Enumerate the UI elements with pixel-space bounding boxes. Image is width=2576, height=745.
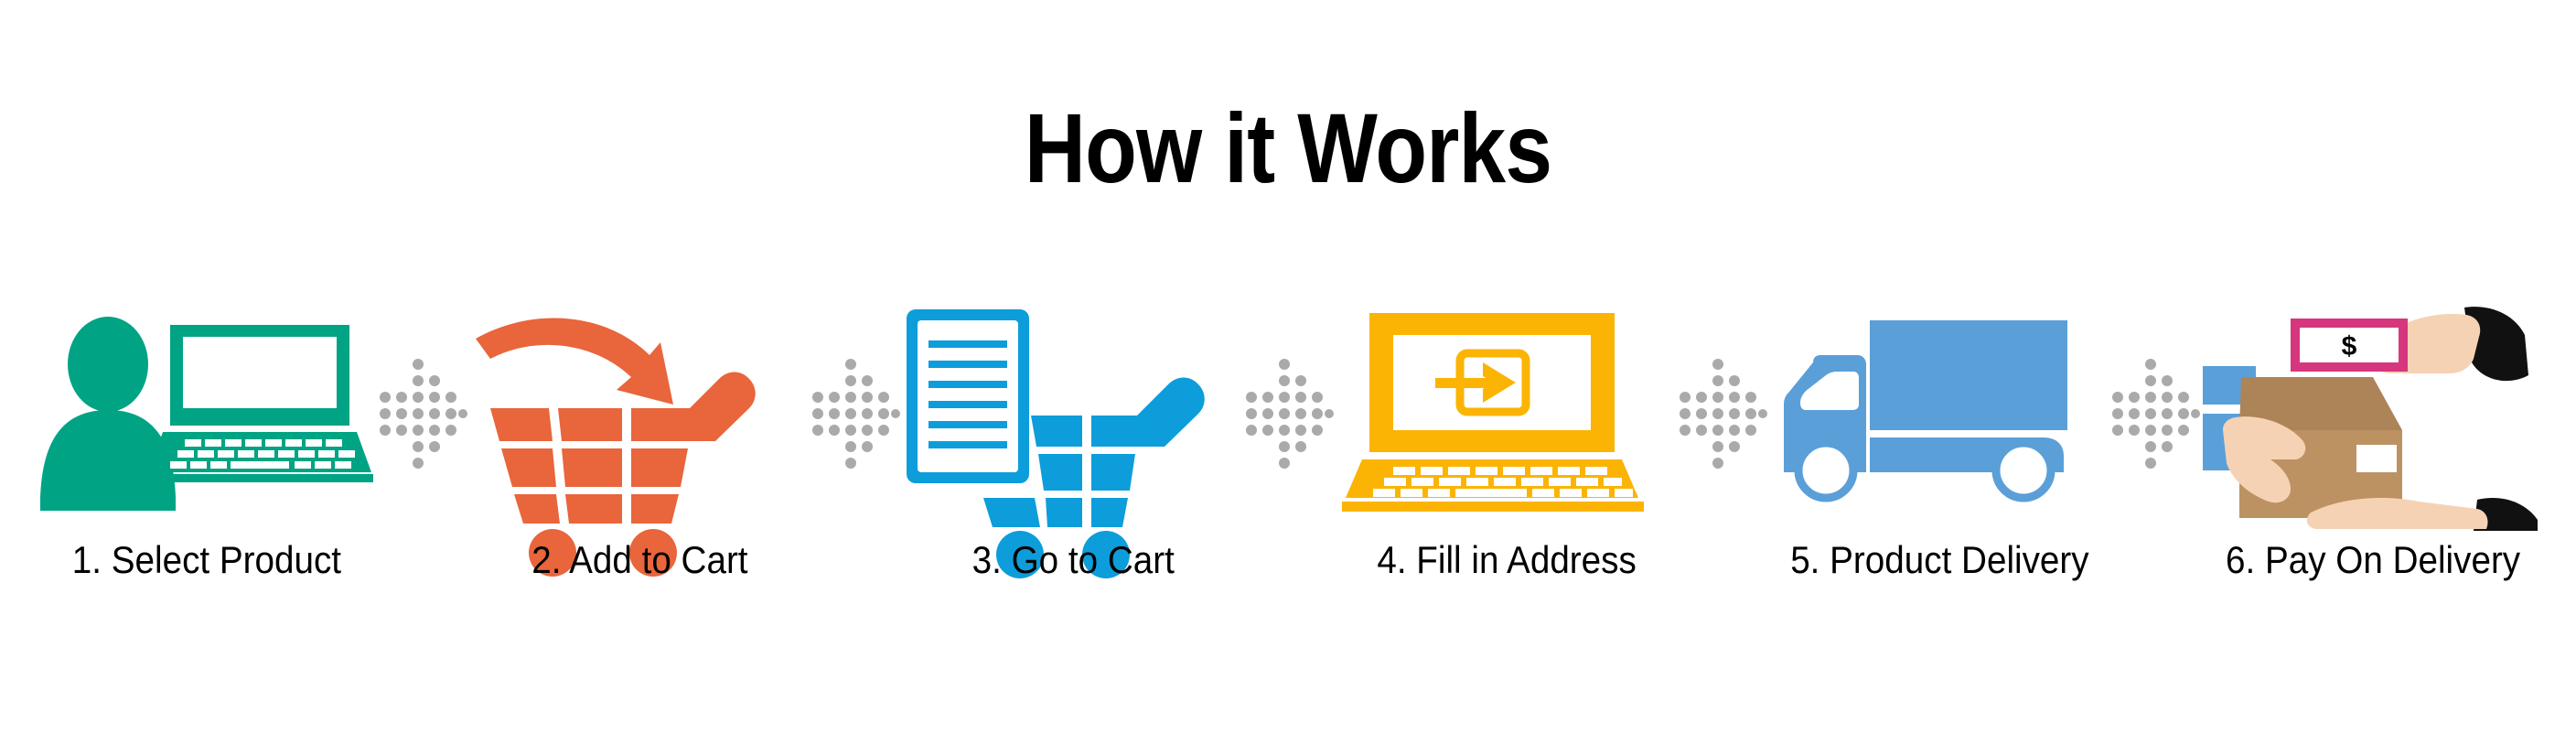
hands-exchange-box-and-cash-icon: $ — [2203, 302, 2543, 531]
dotted-arrow-right-icon — [814, 355, 898, 584]
dotted-arrow-right-icon — [1681, 355, 1766, 584]
step-5-label: 5. Product Delivery — [1790, 538, 2088, 582]
arrow-into-cart-icon — [470, 302, 810, 531]
step-4-label: 4. Fill in Address — [1377, 538, 1636, 582]
step-6-pay-on-delivery[interactable]: $ 6 — [2203, 302, 2543, 632]
document-with-cart-icon — [903, 302, 1243, 531]
dotted-arrow-right-icon — [2114, 355, 2198, 584]
step-1-select-product[interactable]: 1. Select Product — [37, 302, 377, 632]
person-at-laptop-icon — [37, 302, 377, 531]
laptop-login-icon — [1336, 302, 1677, 531]
steps-row: 1. Select Product — [37, 302, 2543, 632]
step-3-go-to-cart[interactable]: 3. Go to Cart — [903, 302, 1243, 632]
step-2-label: 2. Add to Cart — [531, 538, 747, 582]
step-5-product-delivery[interactable]: 5. Product Delivery — [1769, 302, 2109, 632]
delivery-truck-icon — [1769, 302, 2109, 531]
how-it-works-infographic: How it Works — [0, 0, 2576, 745]
step-3-label: 3. Go to Cart — [972, 538, 1175, 582]
step-2-add-to-cart[interactable]: 2. Add to Cart — [470, 302, 810, 632]
step-6-label: 6. Pay On Delivery — [2226, 538, 2520, 582]
banknote: $ — [2291, 319, 2408, 372]
step-1-label: 1. Select Product — [72, 538, 341, 582]
svg-text:$: $ — [2342, 331, 2357, 362]
step-4-fill-in-address[interactable]: 4. Fill in Address — [1336, 302, 1677, 632]
page-title: How it Works — [180, 99, 2396, 198]
dotted-arrow-right-icon — [1248, 355, 1332, 584]
dotted-arrow-right-icon — [381, 355, 466, 584]
